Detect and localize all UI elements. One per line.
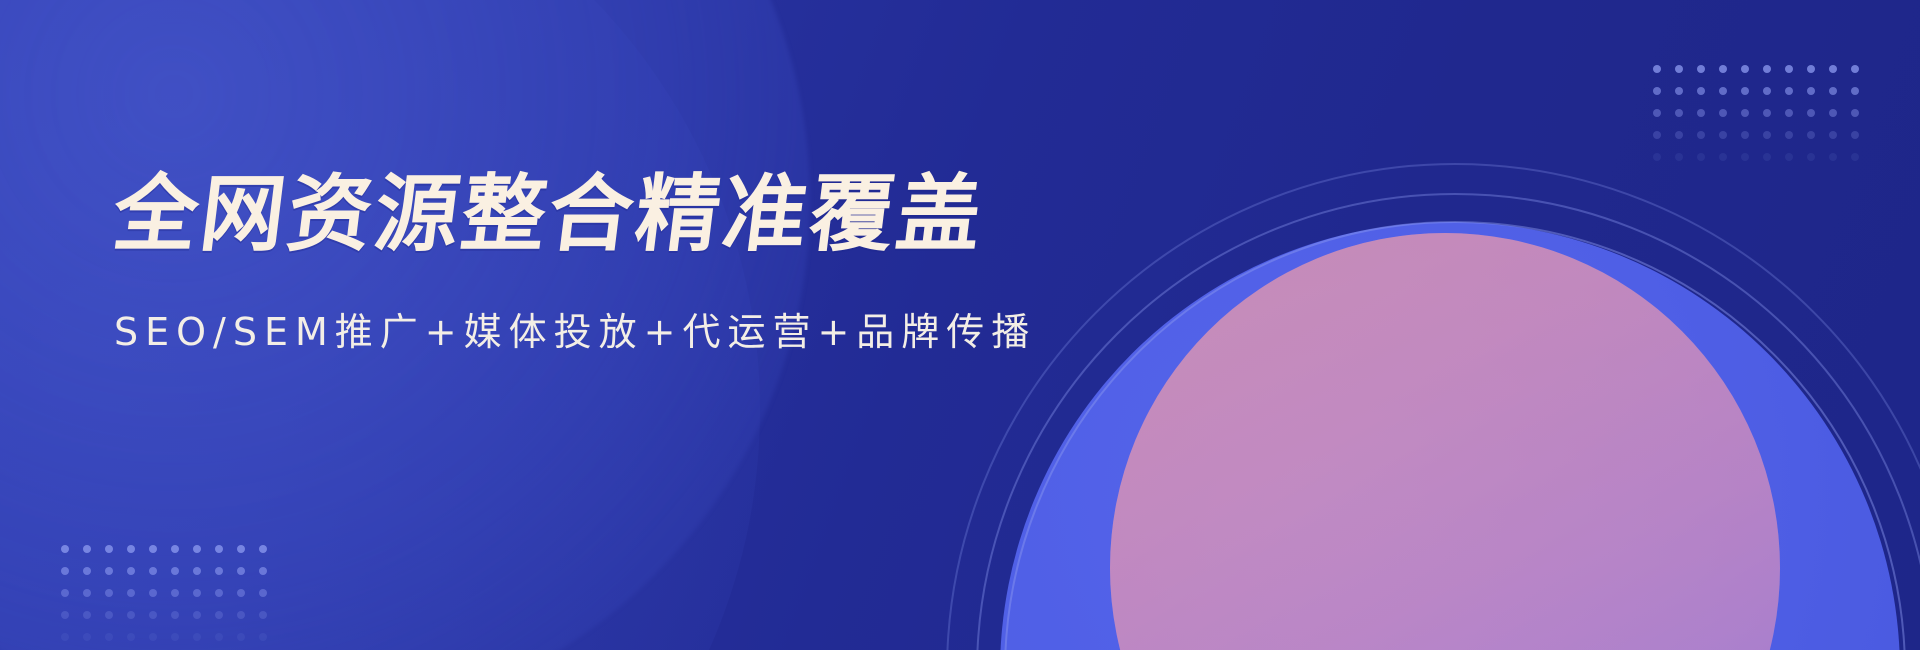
promo-banner: 全网资源整合精准覆盖 SEO/SEM推广+媒体投放+代运营+品牌传播	[0, 0, 1920, 650]
dot-grid-top-right	[1646, 58, 1866, 168]
banner-headline: 全网资源整合精准覆盖	[109, 172, 1042, 258]
dot-grid-bottom-left	[54, 538, 274, 648]
banner-subline: SEO/SEM推广+媒体投放+代运营+品牌传播	[114, 258, 1036, 356]
banner-content: 全网资源整合精准覆盖 SEO/SEM推广+媒体投放+代运营+品牌传播	[114, 172, 1036, 355]
